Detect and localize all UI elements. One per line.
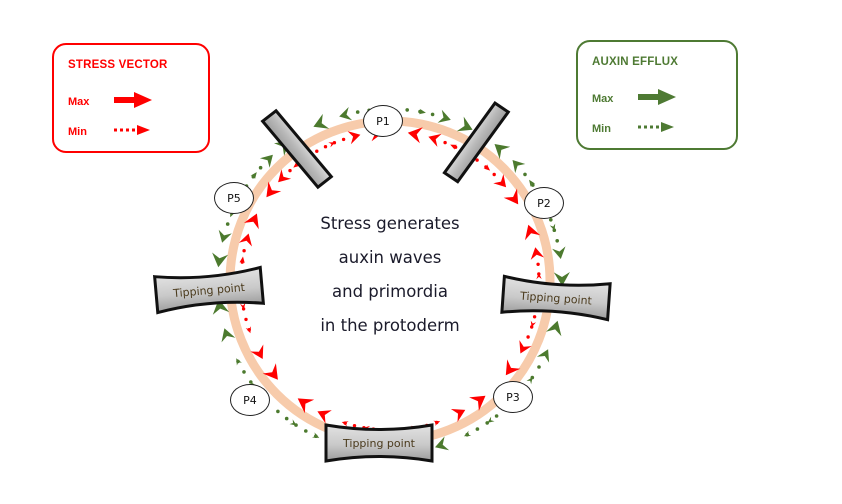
tipping-point-bottom: Tipping point [324, 421, 434, 465]
legend-row-min: Min [68, 123, 156, 141]
primordium-node-p5[interactable]: P5 [214, 182, 254, 214]
caption-line-1: Stress generates [283, 207, 497, 241]
plaque-shape [155, 267, 264, 312]
legend-label-max: Max [592, 93, 636, 105]
legend-auxin-efflux: AUXIN EFFLUX Max Min [576, 40, 738, 150]
primordium-node-p1[interactable]: P1 [363, 105, 403, 137]
primordium-label: P5 [227, 192, 241, 205]
primordium-node-p2[interactable]: P2 [524, 187, 564, 219]
legend-row-max: Max [592, 90, 680, 108]
plaque-shape [326, 425, 432, 461]
primordium-label: P3 [506, 391, 520, 404]
caption-line-3: and primordia [283, 275, 497, 309]
diagram-canvas: Tipping point Tipping point Tipping poin… [0, 0, 842, 504]
caption-line-4: in the protoderm [283, 309, 497, 343]
tipping-point-right: Tipping point [500, 272, 613, 324]
solid-arrow-icon [636, 88, 680, 111]
legend-label-min: Min [68, 126, 112, 138]
legend-row-min: Min [592, 120, 680, 138]
legend-title: AUXIN EFFLUX [592, 56, 678, 68]
legend-label-max: Max [68, 96, 112, 108]
legend-title: STRESS VECTOR [68, 59, 168, 71]
dotted-arrow-icon [112, 123, 156, 142]
legend-stress-vector: STRESS VECTOR Max Min [52, 43, 210, 153]
solid-arrow-icon [112, 91, 156, 114]
primordium-label: P1 [376, 115, 390, 128]
dotted-arrow-icon [636, 120, 680, 139]
caption-line-2: auxin waves [283, 241, 497, 275]
primordium-node-p4[interactable]: P4 [230, 384, 270, 416]
legend-label-min: Min [592, 123, 636, 135]
legend-row-max: Max [68, 93, 156, 111]
primordium-label: P2 [537, 197, 551, 210]
center-caption: Stress generates auxin waves and primord… [283, 207, 497, 343]
primordium-node-p3[interactable]: P3 [493, 381, 533, 413]
primordium-label: P4 [243, 394, 257, 407]
plaque-shape [502, 276, 610, 319]
